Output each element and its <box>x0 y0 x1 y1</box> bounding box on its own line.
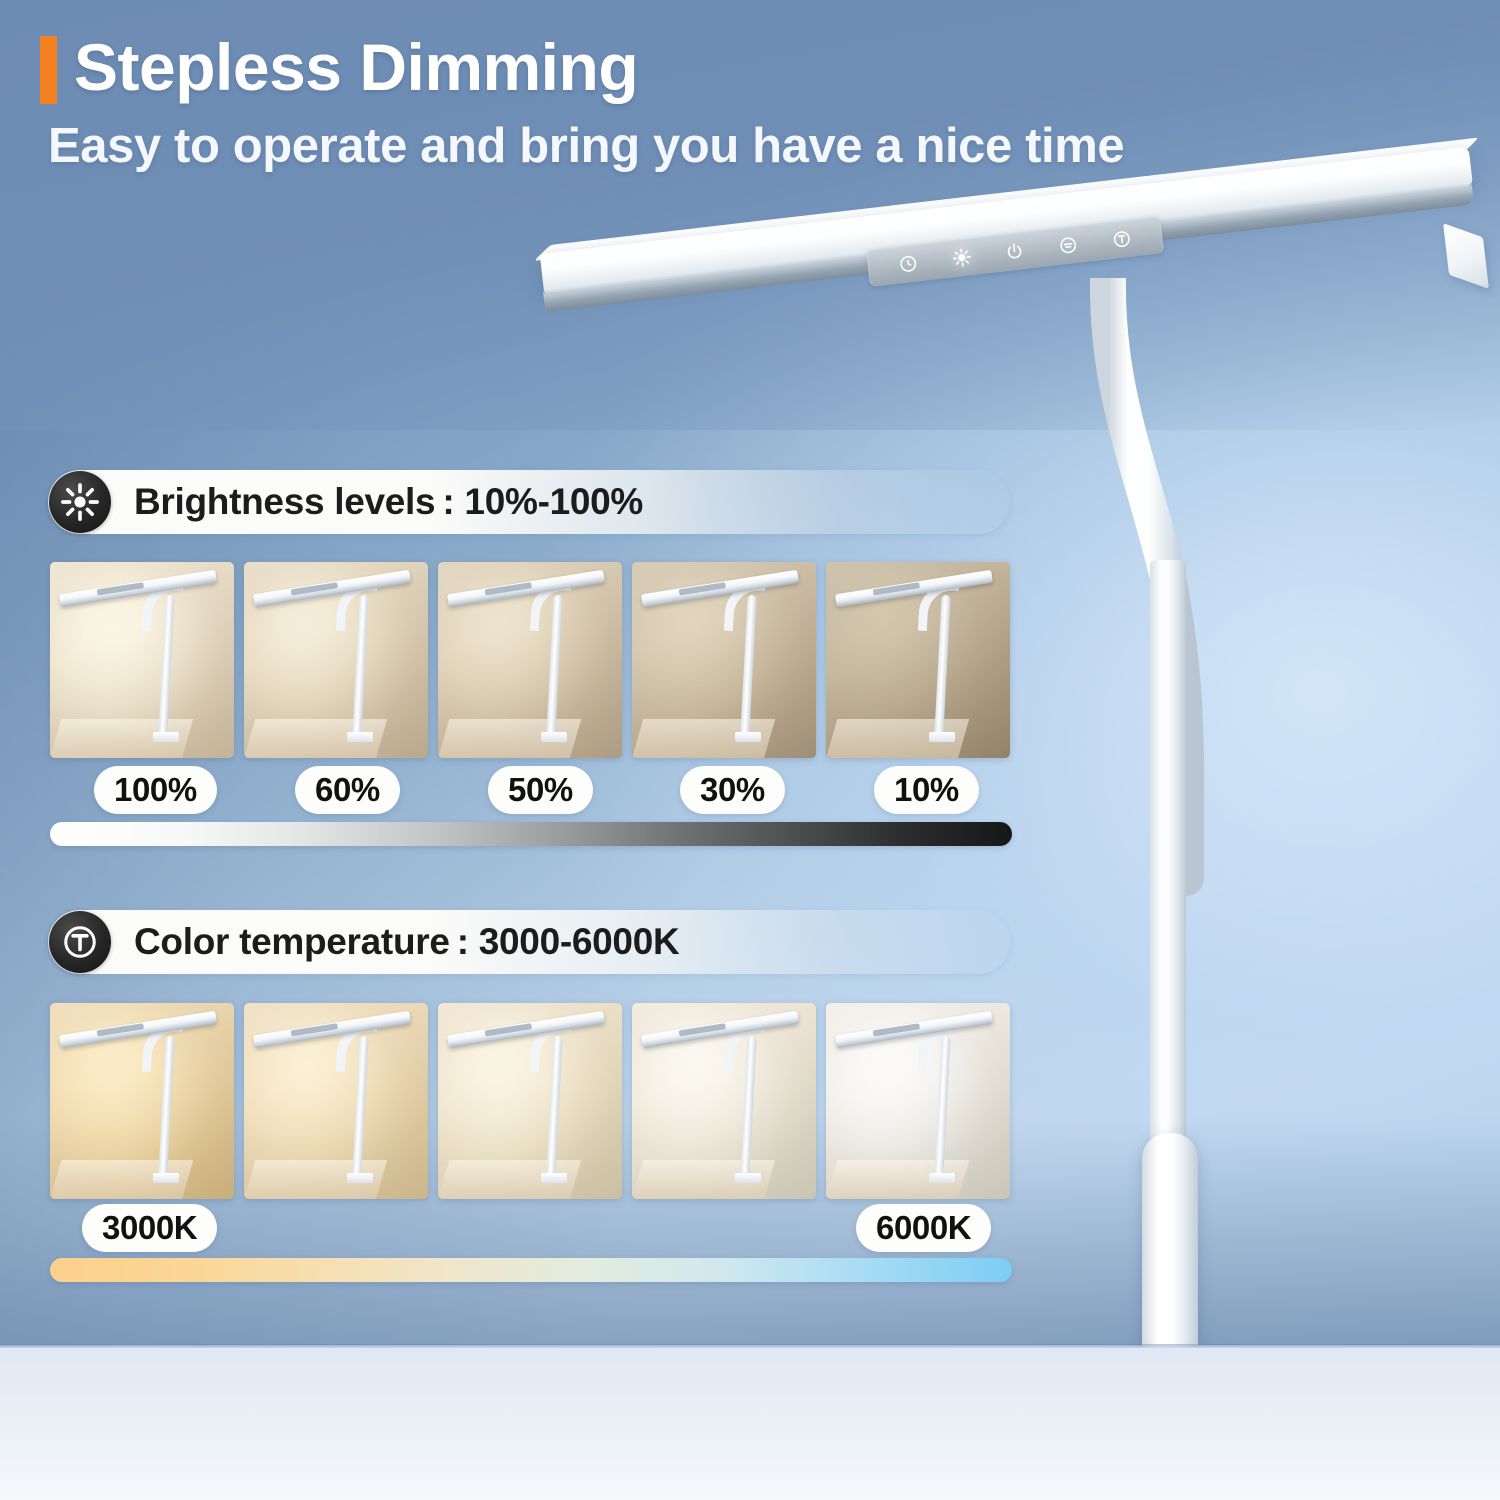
brightness-chip-30: 30% <box>680 766 785 814</box>
tile-brightness-30 <box>632 562 816 758</box>
lamp-gooseneck <box>1040 278 1240 1168</box>
temperature-t-icon <box>49 911 111 973</box>
brightness-icon[interactable] <box>950 246 973 269</box>
tile-brightness-50 <box>438 562 622 758</box>
temperature-chip-3000k: 3000K <box>82 1204 217 1252</box>
page-title: Stepless Dimming <box>74 34 638 100</box>
title-row: Stepless Dimming <box>40 30 1124 104</box>
page-subtitle: Easy to operate and bring you have a nic… <box>48 118 1124 174</box>
tile-temp-step4 <box>632 1003 816 1199</box>
color-temperature-tile-row <box>50 1003 1010 1199</box>
color-temperature-gradient-bar <box>50 1258 1012 1282</box>
tile-brightness-100 <box>50 562 234 758</box>
color-temperature-section-label: Color temperature : 3000-6000K <box>134 921 679 963</box>
brightness-gradient-bar <box>50 822 1012 846</box>
lamp-post-sleeve <box>1142 1133 1198 1365</box>
product-infographic: Stepless Dimming Easy to operate and bri… <box>0 0 1500 1500</box>
tile-temp-3000k <box>50 1003 234 1199</box>
brightness-chip-10: 10% <box>874 766 979 814</box>
tile-brightness-60 <box>244 562 428 758</box>
lamp-post <box>1150 560 1186 1150</box>
brightness-chip-100: 100% <box>94 766 217 814</box>
brightness-label-row: 100% 60% 50% 30% 10% <box>50 766 1010 816</box>
brightness-section-label: Brightness levels : 10%-100% <box>134 481 643 523</box>
brightness-chip-60: 60% <box>295 766 400 814</box>
brightness-section-header: Brightness levels : 10%-100% <box>48 470 1010 534</box>
tile-brightness-10 <box>826 562 1010 758</box>
tile-temp-step2 <box>244 1003 428 1199</box>
tile-temp-6000k <box>826 1003 1010 1199</box>
mode-icon[interactable] <box>1057 233 1080 256</box>
brightness-chip-50: 50% <box>488 766 593 814</box>
tile-temp-step3 <box>438 1003 622 1199</box>
color-temperature-label-row: 3000K 6000K <box>50 1204 1010 1254</box>
accent-bar <box>40 36 57 104</box>
temperature-chip-6000k: 6000K <box>856 1204 991 1252</box>
page-header: Stepless Dimming Easy to operate and bri… <box>40 30 1124 174</box>
brightness-sun-icon <box>49 471 111 533</box>
timer-icon[interactable] <box>897 252 920 275</box>
lamp-head <box>542 216 1477 366</box>
color-temp-icon[interactable] <box>1110 227 1133 250</box>
color-temperature-section-header: Color temperature : 3000-6000K <box>48 910 1010 974</box>
desk-surface <box>0 1348 1500 1500</box>
power-icon[interactable] <box>1003 239 1026 262</box>
brightness-tile-row <box>50 562 1010 758</box>
